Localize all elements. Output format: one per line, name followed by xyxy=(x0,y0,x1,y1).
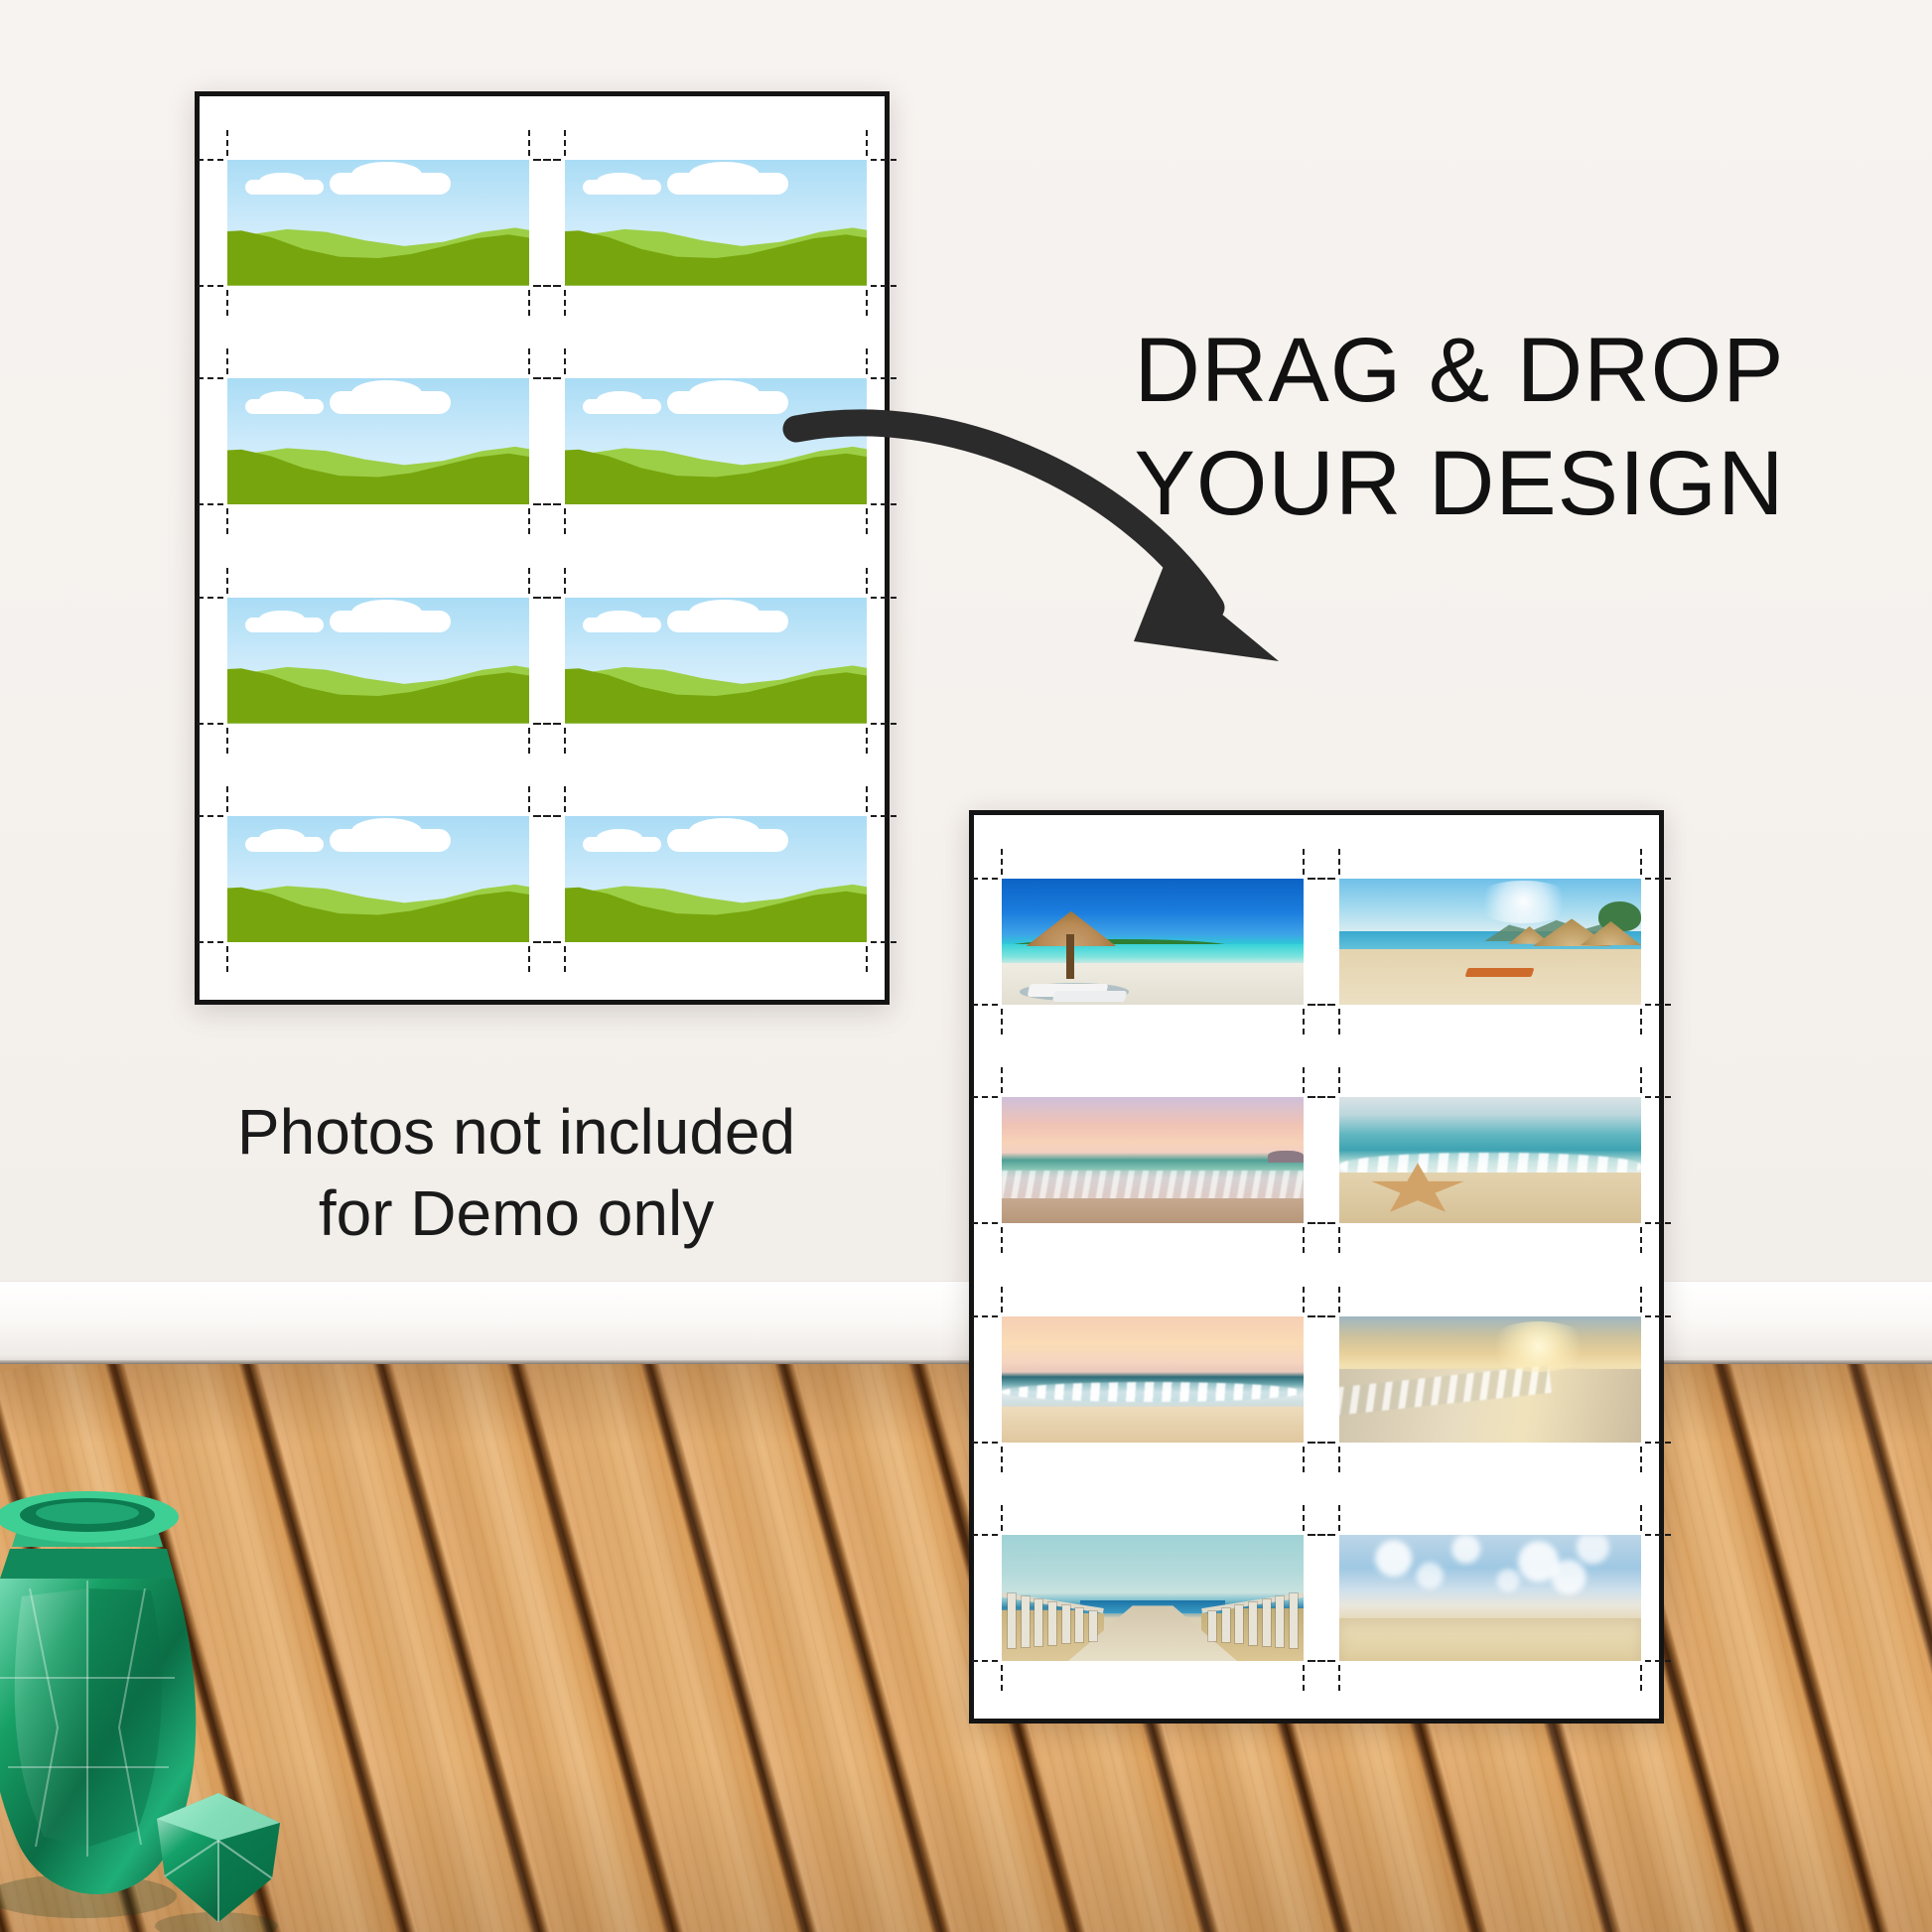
template-cell[interactable] xyxy=(227,787,529,973)
photo-cell[interactable] xyxy=(1339,1068,1641,1254)
photo-cell[interactable] xyxy=(1002,1287,1304,1472)
cloud-icon xyxy=(245,180,324,195)
placeholder-artwork xyxy=(565,160,867,286)
headline-line-2: YOUR DESIGN xyxy=(1013,427,1906,540)
photo-artwork xyxy=(1002,1097,1304,1223)
photo-cell[interactable] xyxy=(1002,1068,1304,1254)
scene-canvas: DRAG & DROP YOUR DESIGN Photos not inclu… xyxy=(0,0,1932,1932)
placeholder-illustration xyxy=(227,160,529,286)
cloud-icon xyxy=(583,837,661,852)
photo-p5 xyxy=(1002,1316,1304,1443)
template-cell[interactable] xyxy=(565,130,867,316)
photo-cell[interactable] xyxy=(1339,849,1641,1035)
headline: DRAG & DROP YOUR DESIGN xyxy=(1013,314,1906,540)
photo-p1 xyxy=(1002,879,1304,1005)
cloud-icon xyxy=(583,180,661,195)
photo-p8 xyxy=(1339,1535,1641,1661)
cloud-icon xyxy=(330,829,451,852)
photo-artwork xyxy=(1339,1535,1641,1661)
placeholder-illustration xyxy=(227,378,529,504)
placeholder-illustration xyxy=(227,598,529,724)
cloud-icon xyxy=(667,173,788,196)
placeholder-artwork xyxy=(227,598,529,724)
template-grid xyxy=(227,130,867,972)
photo-cell[interactable] xyxy=(1002,849,1304,1035)
cloud-icon xyxy=(245,618,324,632)
decor-group xyxy=(0,1430,298,1932)
note-line-2: for Demo only xyxy=(139,1173,894,1255)
photo-grid xyxy=(1002,849,1641,1691)
photo-p2 xyxy=(1339,879,1641,1005)
template-sheet[interactable] xyxy=(195,91,890,1005)
photo-cell[interactable] xyxy=(1339,1287,1641,1472)
photo-artwork xyxy=(1002,1316,1304,1443)
disclaimer-note: Photos not included for Demo only xyxy=(139,1092,894,1255)
cloud-icon xyxy=(330,173,451,196)
cloud-icon xyxy=(330,611,451,633)
placeholder-illustration xyxy=(565,160,867,286)
placeholder-illustration xyxy=(227,816,529,942)
cloud-icon xyxy=(245,399,324,414)
template-cell[interactable] xyxy=(227,130,529,316)
photo-artwork xyxy=(1339,879,1641,1005)
photo-artwork xyxy=(1002,879,1304,1005)
cloud-icon xyxy=(583,399,661,414)
placeholder-artwork xyxy=(227,378,529,504)
photo-p7 xyxy=(1002,1535,1304,1661)
cloud-icon xyxy=(583,618,661,632)
cloud-icon xyxy=(245,837,324,852)
green-gem xyxy=(155,1793,280,1932)
photo-p3 xyxy=(1002,1097,1304,1223)
photo-p4 xyxy=(1339,1097,1641,1223)
photo-cell[interactable] xyxy=(1339,1506,1641,1692)
placeholder-artwork xyxy=(227,160,529,286)
photo-cell[interactable] xyxy=(1002,1506,1304,1692)
cloud-icon xyxy=(667,611,788,633)
cloud-icon xyxy=(330,391,451,414)
photo-artwork xyxy=(1339,1316,1641,1443)
cloud-icon xyxy=(667,829,788,852)
photo-artwork xyxy=(1339,1097,1641,1223)
cloud-icon xyxy=(667,391,788,414)
template-cell[interactable] xyxy=(227,568,529,754)
headline-line-1: DRAG & DROP xyxy=(1013,314,1906,427)
note-line-1: Photos not included xyxy=(139,1092,894,1173)
photo-p6 xyxy=(1339,1316,1641,1443)
photo-artwork xyxy=(1002,1535,1304,1661)
template-cell[interactable] xyxy=(227,349,529,535)
photo-sheet[interactable] xyxy=(969,810,1664,1724)
placeholder-artwork xyxy=(227,816,529,942)
